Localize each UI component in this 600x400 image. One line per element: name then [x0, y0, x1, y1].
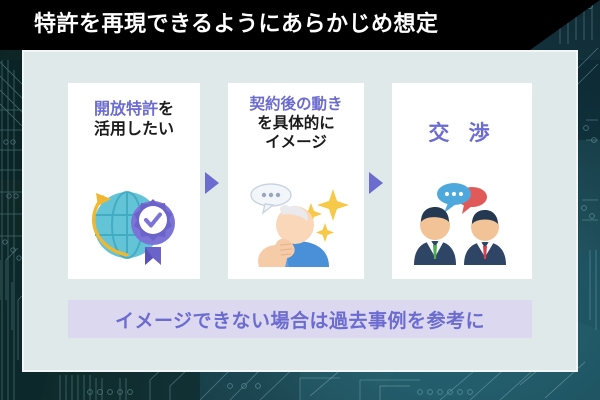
footer-banner-text: イメージできない場合は過去事例を参考に [115, 306, 485, 333]
flow-diagram: 開放特許を 活用したい [24, 52, 576, 370]
card-negotiation[interactable]: 交 渉 [392, 83, 532, 279]
card-imagine-contract[interactable]: 契約後の動き を具体的に イメージ [228, 83, 364, 279]
card-open-patent[interactable]: 開放特許を 活用したい [68, 83, 200, 279]
card-open-patent-line1-highlight: 開放特許 [94, 99, 158, 118]
thinking-person-icon [228, 179, 364, 271]
card-negotiation-text: 交 渉 [392, 121, 532, 147]
card-negotiation-label: 交 渉 [428, 121, 495, 145]
globe-award-icon [68, 179, 200, 271]
slide-canvas: 開放特許を 活用したい [0, 0, 600, 400]
two-businessmen-icon [392, 179, 532, 271]
arrow-2-triangle-right-icon [369, 172, 383, 194]
title-banner: 特許を再現できるようにあらかじめ想定 [0, 0, 600, 50]
footer-banner: イメージできない場合は過去事例を参考に [68, 300, 532, 338]
card-open-patent-line1-plain: を [158, 99, 174, 118]
card-imagine-contract-line2: を具体的に [257, 114, 335, 132]
card-imagine-contract-text: 契約後の動き を具体的に イメージ [228, 95, 364, 152]
card-open-patent-line2: 活用したい [94, 119, 174, 138]
card-imagine-contract-line1: 契約後の動き [249, 95, 342, 113]
card-open-patent-text: 開放特許を 活用したい [68, 99, 200, 138]
card-imagine-contract-line3: イメージ [265, 133, 327, 151]
page-title: 特許を再現できるようにあらかじめ想定 [34, 7, 439, 43]
arrow-1-triangle-right-icon [205, 172, 219, 194]
